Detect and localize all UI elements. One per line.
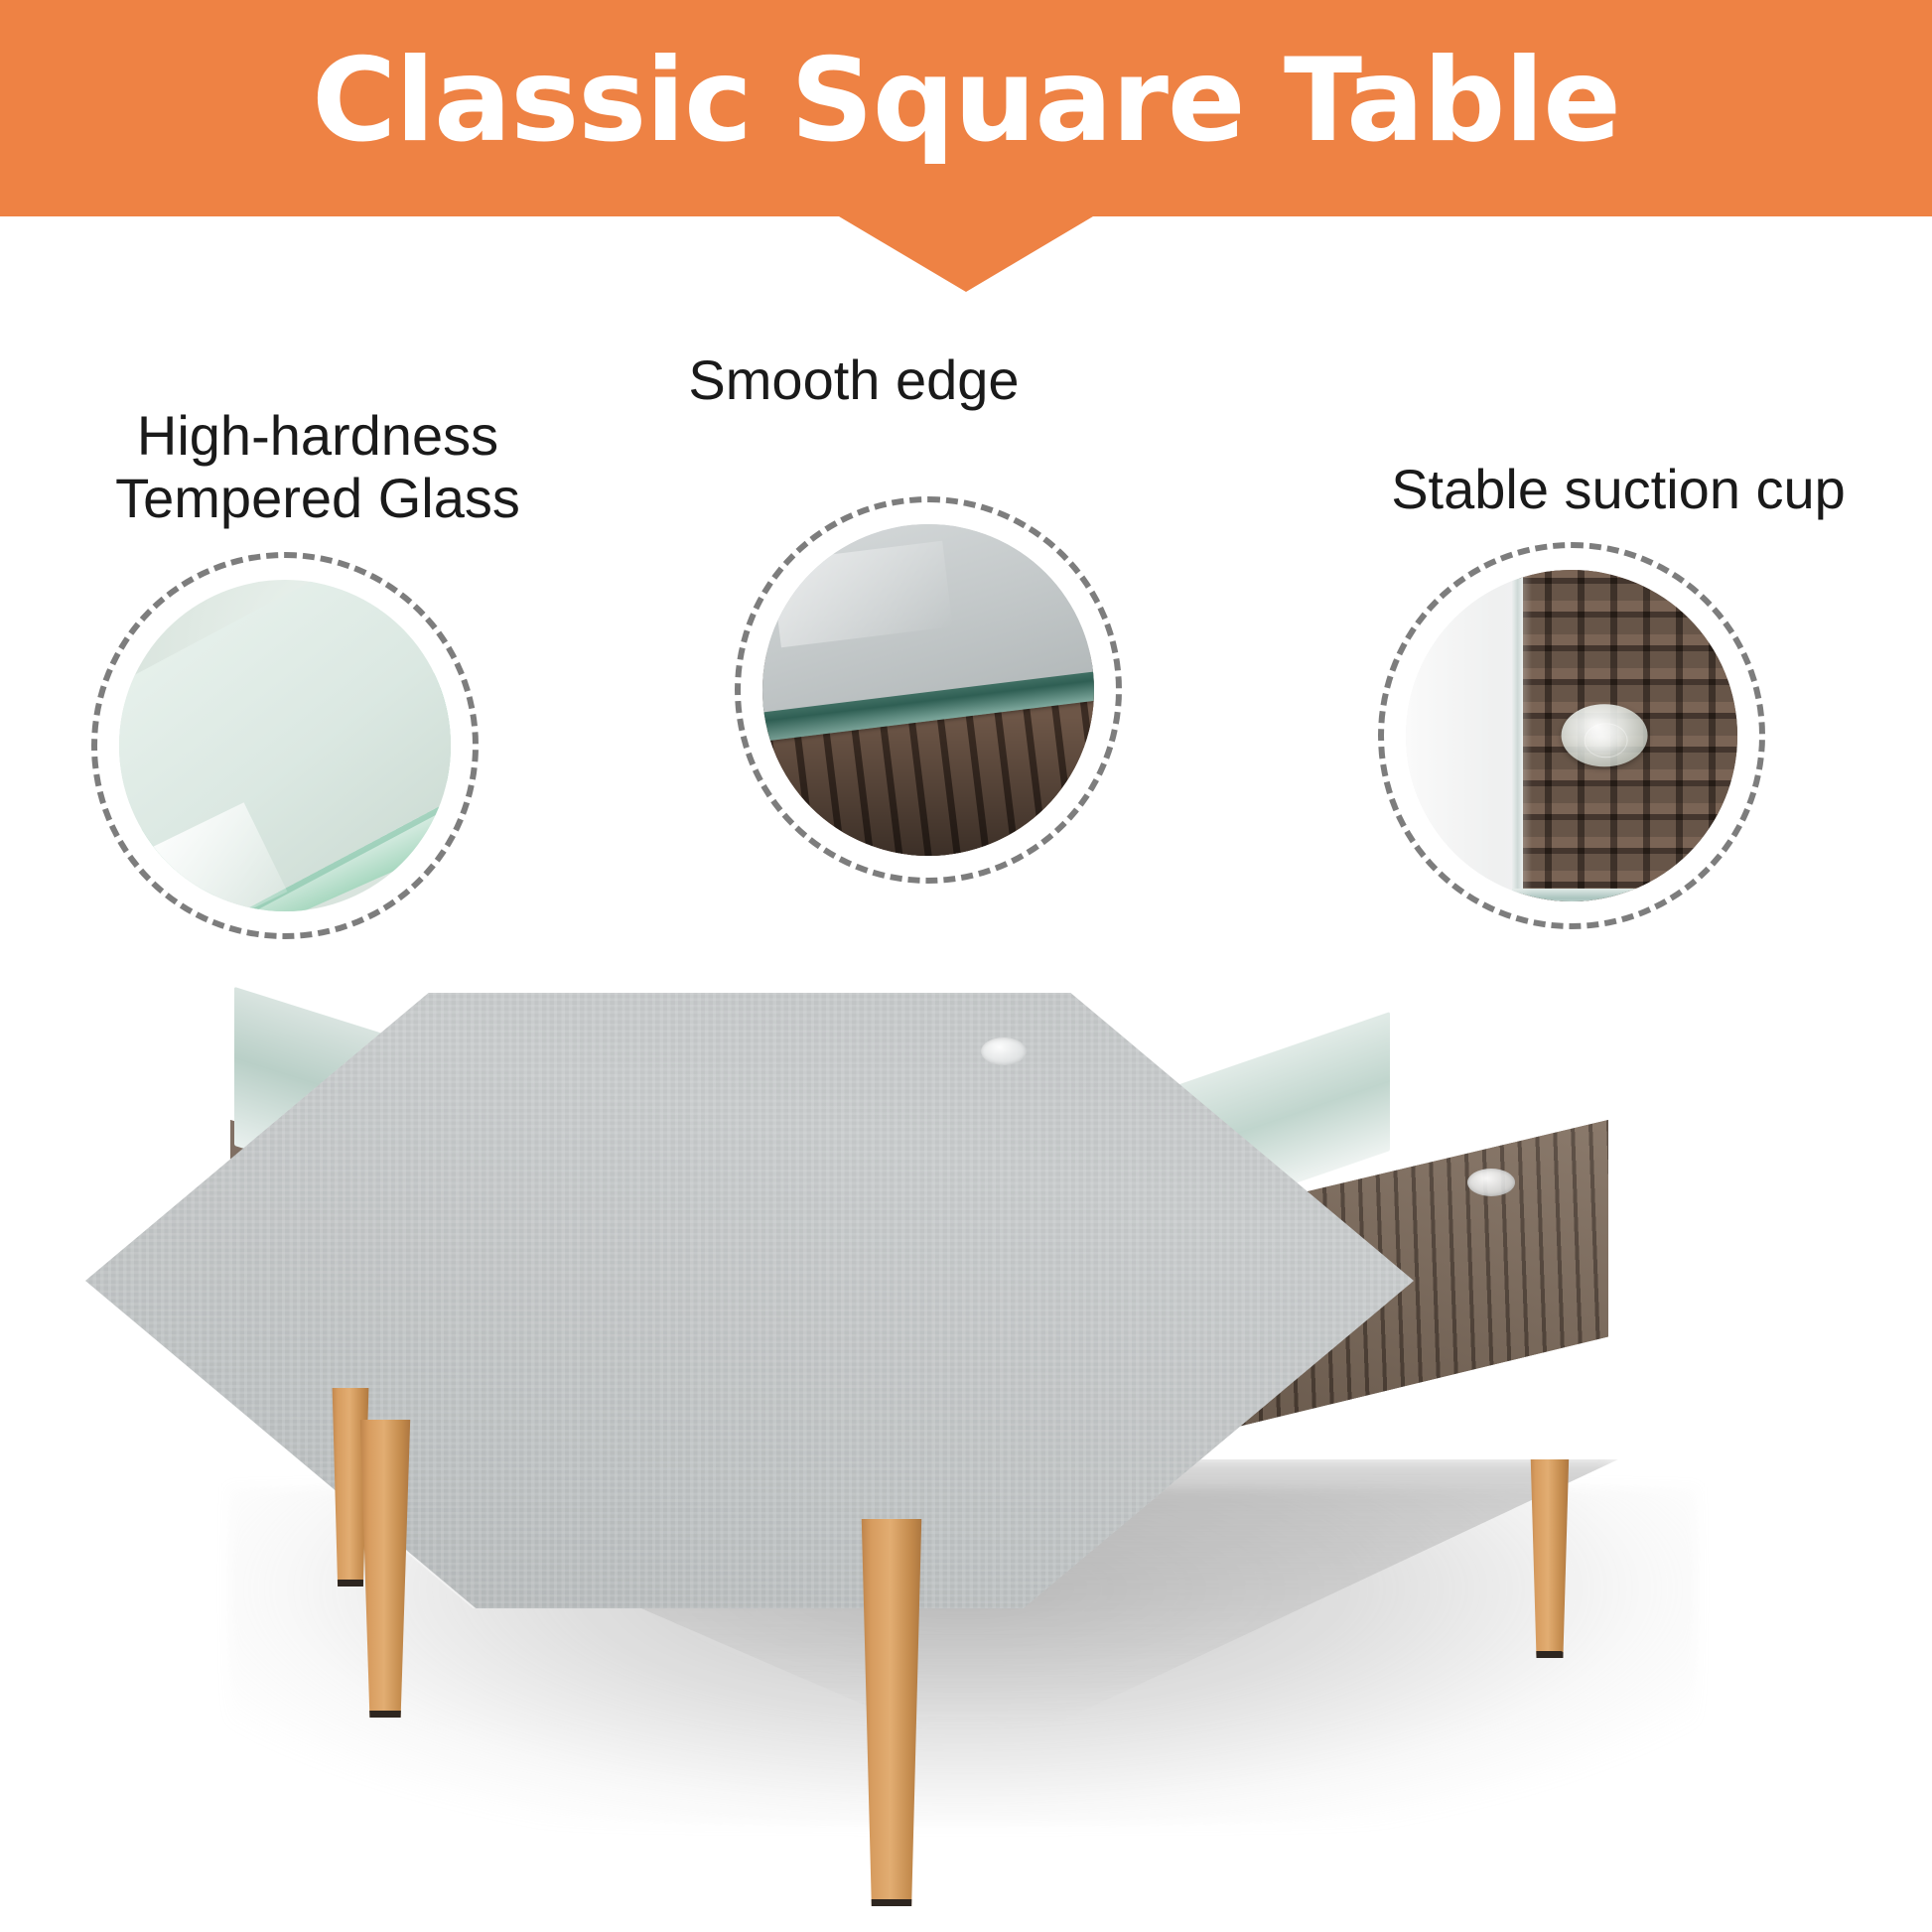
- table-leg-back-right: [1525, 1459, 1573, 1658]
- banner-pointer-icon: [839, 216, 1093, 292]
- feature-label-suction-cup: Stable suction cup: [1340, 459, 1896, 521]
- feature-ring-tempered-glass: [91, 552, 479, 939]
- table-legs: [0, 993, 1932, 1932]
- feature-label-smooth-edge: Smooth edge: [576, 349, 1132, 412]
- page-title: Classic Square Table: [0, 0, 1932, 216]
- product-photo: [0, 993, 1932, 1932]
- feature-ring-smooth-edge: [735, 496, 1122, 884]
- table-leg-left: [355, 1420, 415, 1718]
- header-banner: Classic Square Table: [0, 0, 1932, 216]
- table-leg-front: [856, 1519, 927, 1906]
- feature-ring-suction-cup: [1378, 542, 1765, 929]
- feature-label-tempered-glass: High-hardness Tempered Glass: [40, 405, 596, 529]
